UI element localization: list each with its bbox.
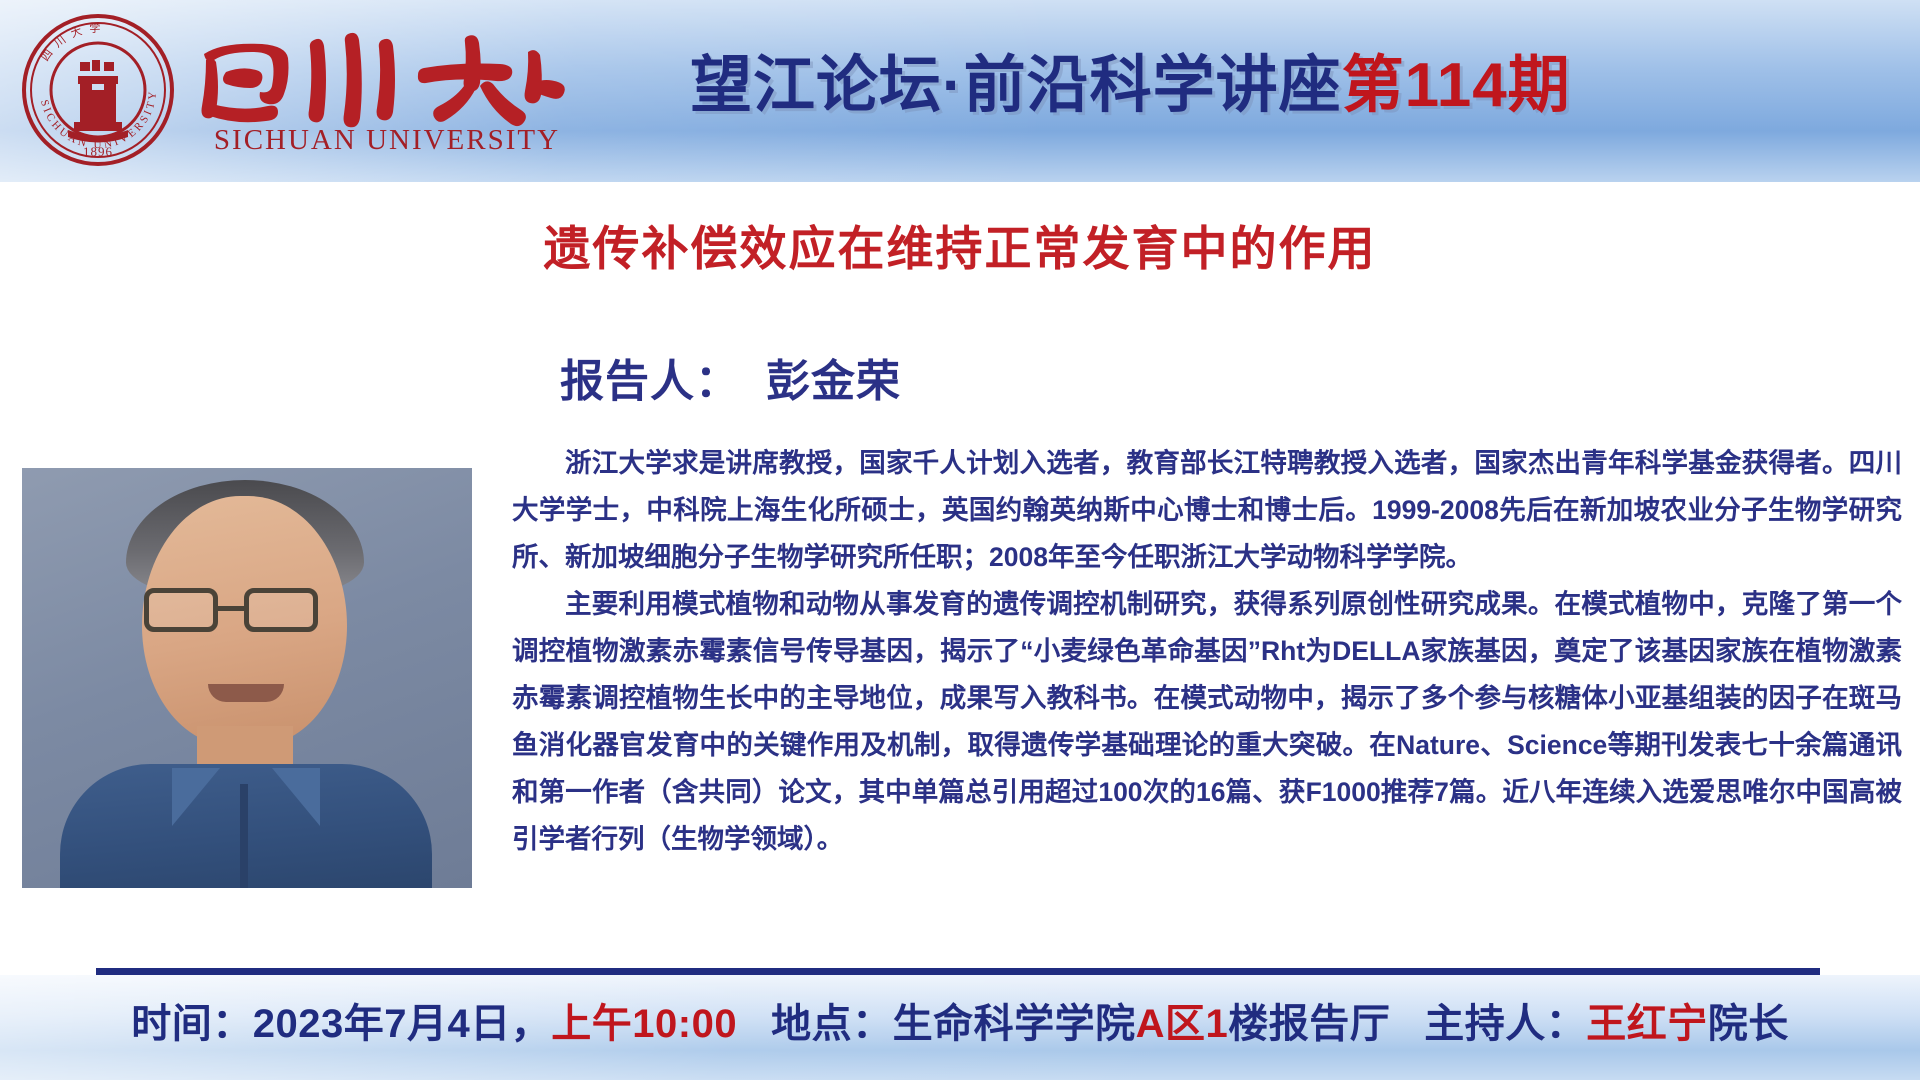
bio-paragraph-2: 主要利用模式植物和动物从事发育的遗传调控机制研究，获得系列原创性研究成果。在模式…	[512, 581, 1902, 863]
place-suffix: 楼报告厅	[1228, 1002, 1390, 1046]
photo-shirt-placket	[240, 784, 248, 888]
forum-title-issue: 第114期	[1342, 51, 1571, 120]
time-label: 时间：	[131, 1002, 253, 1046]
seminar-poster: 1896 四 川 大 学 SICHUAN UNIVERSITY	[0, 0, 1920, 1080]
time-clock: 上午10:00	[551, 1002, 737, 1046]
place-label: 地点：	[771, 1002, 893, 1046]
speaker-biography: 浙江大学求是讲席教授，国家千人计划入选者，教育部长江特聘教授入选者，国家杰出青年…	[512, 440, 1902, 863]
photo-glasses-bridge	[218, 606, 244, 611]
photo-collar-left	[172, 768, 220, 826]
photo-mouth	[208, 684, 284, 702]
photo-collar-right	[272, 768, 320, 826]
speaker-label: 报告人：	[560, 357, 740, 406]
talk-title: 遗传补偿效应在维持正常发育中的作用	[0, 210, 1920, 279]
event-details: 时间：2023年7月4日，上午10:00地点：生命科学学院A区1楼报告厅主持人：…	[0, 991, 1920, 1049]
place-prefix: 生命科学学院	[893, 1002, 1136, 1046]
university-name-en: SICHUAN UNIVERSITY	[192, 124, 582, 157]
university-name-cn-calligraphy	[192, 24, 582, 128]
time-date: 2023年7月4日，	[253, 1002, 551, 1046]
speaker-line: 报告人：彭金荣	[560, 345, 901, 409]
university-wordmark: SICHUAN UNIVERSITY	[192, 24, 582, 157]
speaker-photo	[22, 468, 472, 888]
host-name: 王红宁	[1586, 1002, 1708, 1046]
photo-glasses-right	[244, 588, 318, 632]
university-logo: 1896 四 川 大 学 SICHUAN UNIVERSITY	[18, 10, 582, 170]
poster-header: 1896 四 川 大 学 SICHUAN UNIVERSITY	[0, 0, 1920, 182]
forum-title-main: 望江论坛·前沿科学讲座	[690, 51, 1342, 120]
poster-footer: 时间：2023年7月4日，上午10:00地点：生命科学学院A区1楼报告厅主持人：…	[0, 975, 1920, 1080]
bio-paragraph-1: 浙江大学求是讲席教授，国家千人计划入选者，教育部长江特聘教授入选者，国家杰出青年…	[512, 440, 1902, 581]
host-title: 院长	[1708, 1002, 1789, 1046]
place-highlight: A区1	[1136, 1002, 1229, 1046]
speaker-name: 彭金荣	[766, 357, 901, 406]
photo-glasses-left	[144, 588, 218, 632]
host-label: 主持人：	[1424, 1002, 1586, 1046]
page-title: 望江论坛·前沿科学讲座第114期	[690, 34, 1571, 124]
university-seal-icon: 1896 四 川 大 学 SICHUAN UNIVERSITY	[18, 10, 178, 170]
footer-divider	[96, 968, 1820, 975]
